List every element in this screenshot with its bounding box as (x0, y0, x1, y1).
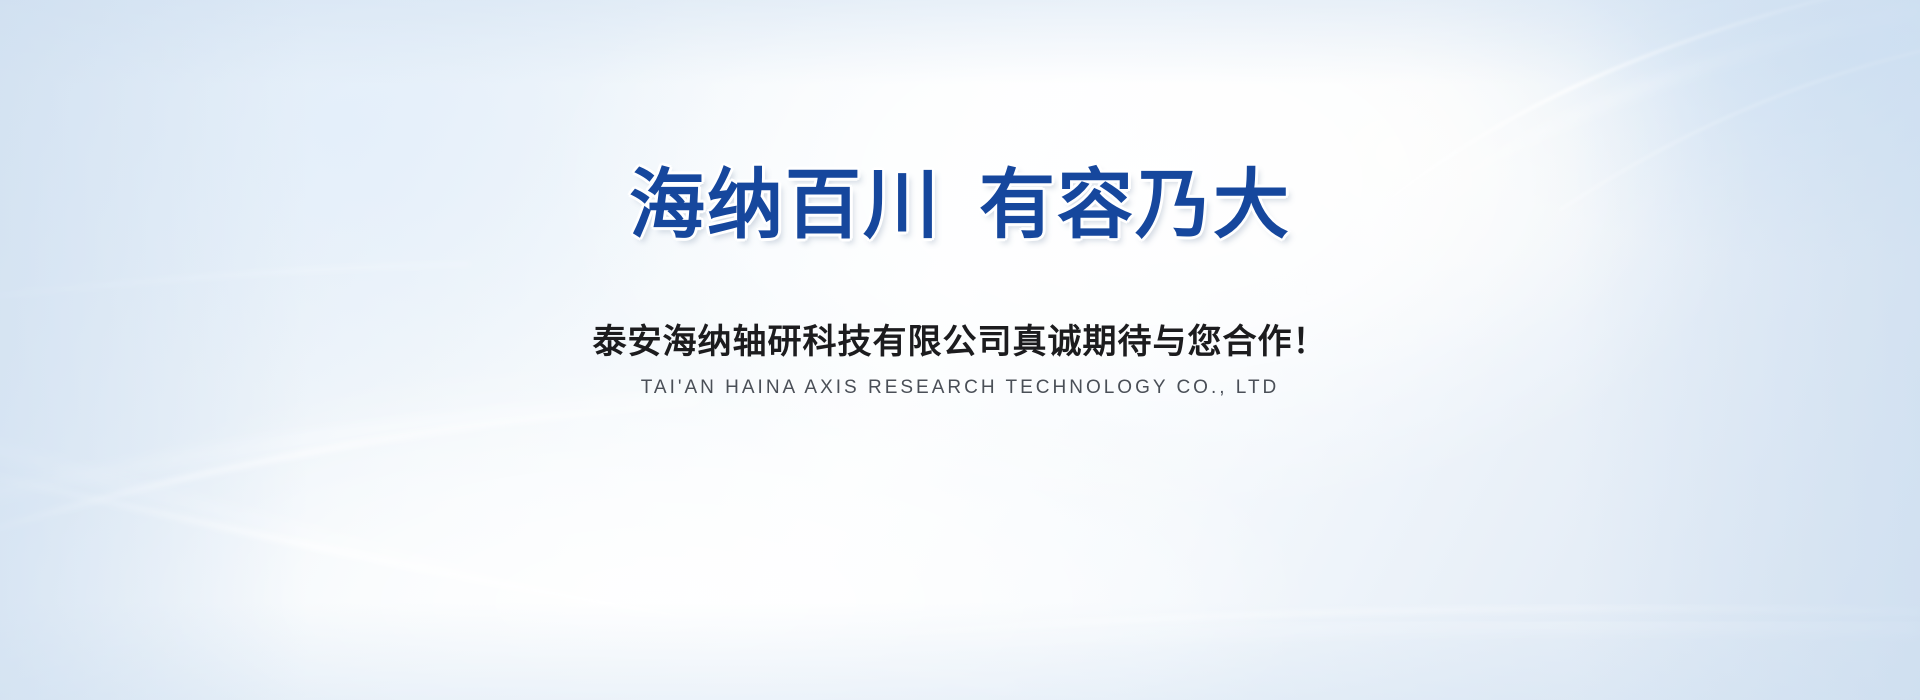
subtitle-chinese: 泰安海纳轴研科技有限公司真诚期待与您合作！ (593, 322, 1328, 363)
subtitle-english: TAI'AN HAINA AXIS RESEARCH TECHNOLOGY CO… (641, 377, 1280, 400)
page-title: 海纳百川有容乃大 (629, 168, 1291, 244)
banner-content: 海纳百川有容乃大 泰安海纳轴研科技有限公司真诚期待与您合作！ TAI'AN HA… (0, 0, 1920, 700)
hero-banner: 海纳百川有容乃大 泰安海纳轴研科技有限公司真诚期待与您合作！ TAI'AN HA… (0, 0, 1920, 700)
headline-part-2: 有容乃大 (979, 163, 1291, 248)
headline-part-1: 海纳百川 (629, 163, 941, 248)
